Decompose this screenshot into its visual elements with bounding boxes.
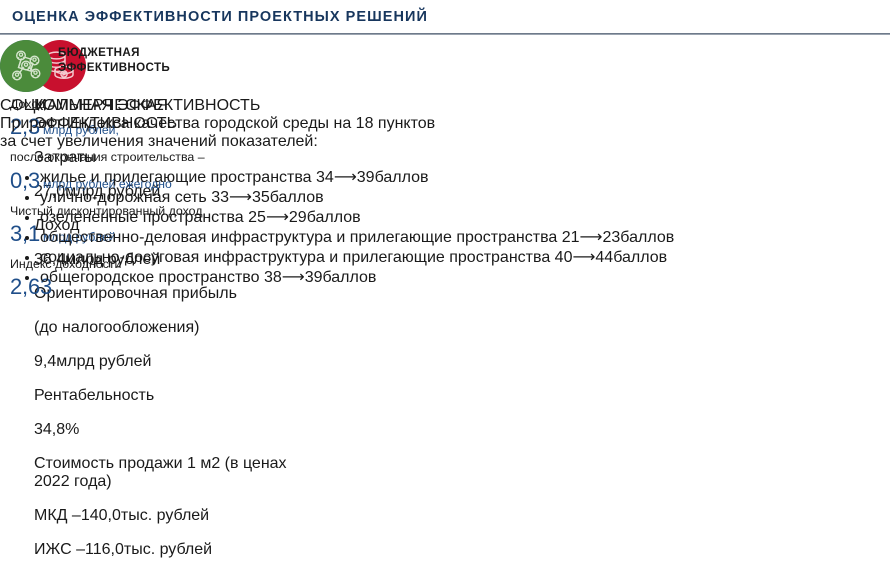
- profit-value: 9,4: [34, 353, 56, 370]
- arrow-right-icon: ⟶: [282, 269, 305, 286]
- indicator-from: 38: [264, 269, 282, 286]
- indicator-to: 35: [252, 189, 270, 206]
- list-item: жилье и прилегающие пространства 34⟶39ба…: [40, 167, 674, 187]
- arrow-right-icon: ⟶: [266, 209, 289, 226]
- mkd-prefix: МКД –: [34, 507, 81, 524]
- mkd-value: 140,0: [81, 507, 121, 524]
- indicator-unit: баллов: [307, 209, 361, 226]
- indicator-label: озелененные пространства: [40, 209, 244, 226]
- indicator-from: 21: [562, 229, 580, 246]
- indicator-label-second-line: и прилегающие пространства 21⟶23баллов: [336, 229, 674, 246]
- indicator-label: жилье и прилегающие пространства: [40, 169, 312, 186]
- indicator-to: 39: [357, 169, 375, 186]
- indicator-from: 40: [555, 249, 573, 266]
- social-intro-on: на: [333, 115, 351, 132]
- list-item: озелененные пространства 25⟶29баллов: [40, 207, 674, 227]
- indicator-label-cont: и прилегающие пространства: [336, 229, 557, 246]
- social-column-header: СОЦИАЛЬНАЯ ЭФФЕКТИВНОСТЬ: [0, 40, 674, 115]
- list-item: общегородское пространство 38⟶39баллов: [40, 267, 674, 287]
- page-header: ОЦЕНКА ЭФФЕКТИВНОСТИ ПРОЕКТНЫХ РЕШЕНИЙ: [0, 0, 890, 34]
- indicator-label-cont: и прилегающие пространства: [329, 249, 550, 266]
- indicator-from: 34: [316, 169, 334, 186]
- social-efficiency-column: СОЦИАЛЬНАЯ ЭФФЕКТИВНОСТЬ Прирост Индекса…: [0, 40, 674, 303]
- indicator-to: 23: [602, 229, 620, 246]
- indicator-to: 29: [289, 209, 307, 226]
- unit-price-label: Стоимость продажи 1 м2 (в ценах 2022 год…: [34, 455, 299, 491]
- indicator-to: 44: [595, 249, 613, 266]
- social-intro-points-unit: пунктов: [378, 115, 435, 132]
- indicator-unit: баллов: [620, 229, 674, 246]
- arrow-right-icon: ⟶: [580, 229, 603, 246]
- indicator-from: 25: [248, 209, 266, 226]
- indicator-unit: баллов: [375, 169, 429, 186]
- social-intro-part1: Прирост Индекса качества городской среды: [0, 115, 329, 132]
- social-title-line1: СОЦИАЛЬНАЯ: [0, 97, 113, 114]
- arrow-right-icon: ⟶: [229, 189, 252, 206]
- profit-unit: млрд рублей: [56, 353, 151, 370]
- people-network-icon: [0, 79, 52, 96]
- indicator-label-second-line: и прилегающие пространства 40⟶44баллов: [329, 249, 667, 266]
- izhs-prefix: ИЖС –: [34, 541, 85, 558]
- social-intro-line2: за счет увеличения значений показателей:: [0, 133, 318, 150]
- indicator-label: улично-дорожная сеть: [40, 189, 207, 206]
- profitability-value-row: 34,8%: [34, 421, 299, 439]
- list-item: улично-дорожная сеть 33⟶35баллов: [40, 187, 674, 207]
- social-indicator-list: жилье и прилегающие пространства 34⟶39ба…: [0, 167, 674, 287]
- social-title-line2: ЭФФЕКТИВНОСТЬ: [117, 97, 260, 114]
- profitability-value: 34,8%: [34, 421, 79, 438]
- arrow-right-icon: ⟶: [572, 249, 595, 266]
- header-divider: [0, 33, 890, 35]
- indicator-unit: баллов: [613, 249, 667, 266]
- social-column-title: СОЦИАЛЬНАЯ ЭФФЕКТИВНОСТЬ: [0, 97, 674, 115]
- indicator-label: социально-досуговая инфраструктура: [40, 249, 325, 266]
- indicator-unit: баллов: [322, 269, 376, 286]
- list-item: социально-досуговая инфраструктура и при…: [40, 247, 674, 267]
- mkd-unit: тыс. рублей: [121, 507, 209, 524]
- profit-label-second-line: (до налогообложения): [34, 319, 299, 337]
- social-intro-text: Прирост Индекса качества городской среды…: [0, 115, 674, 151]
- arrow-right-icon: ⟶: [334, 169, 357, 186]
- social-intro-points: 18: [356, 115, 374, 132]
- page-title: ОЦЕНКА ЭФФЕКТИВНОСТИ ПРОЕКТНЫХ РЕШЕНИЙ: [12, 9, 428, 25]
- indicator-from: 33: [211, 189, 229, 206]
- izhs-unit: тыс. рублей: [124, 541, 212, 558]
- indicator-label: общественно-деловая инфраструктура: [40, 229, 332, 246]
- mkd-price-row: МКД –140,0тыс. рублей: [34, 507, 299, 525]
- profitability-label: Рентабельность: [34, 387, 299, 405]
- izhs-price-row: ИЖС –116,0тыс. рублей: [34, 541, 299, 559]
- list-item: общественно-деловая инфраструктура и при…: [40, 227, 674, 247]
- indicator-to: 39: [305, 269, 323, 286]
- izhs-value: 116,0: [85, 541, 124, 558]
- indicator-unit: баллов: [270, 189, 324, 206]
- indicator-label: общегородское пространство: [40, 269, 260, 286]
- profit-value-row: 9,4млрд рублей: [34, 353, 299, 371]
